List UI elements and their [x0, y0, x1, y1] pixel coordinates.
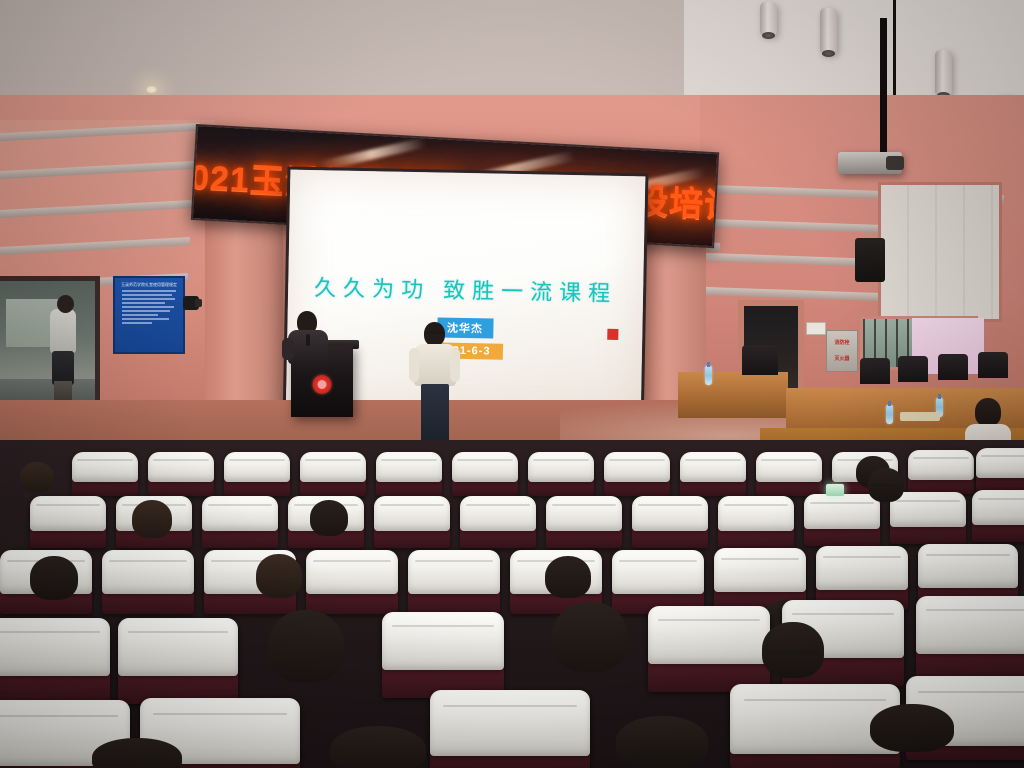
presenter-stage-head	[424, 322, 445, 346]
fire-cabinet-label-1: 消防栓	[827, 339, 857, 347]
seat	[908, 450, 974, 494]
seat-cover	[382, 612, 504, 670]
seat	[756, 452, 822, 496]
notice-text-line	[122, 322, 152, 324]
presenter-stage-arm-right	[450, 348, 460, 382]
seat	[430, 690, 590, 768]
microphone-icon	[306, 334, 310, 346]
seat	[632, 496, 708, 548]
seat	[718, 496, 794, 548]
audience-head	[310, 500, 348, 536]
audience-head-foreground	[330, 726, 426, 768]
seat	[648, 606, 770, 692]
attendee-glasses-icon	[870, 484, 900, 487]
wall-speaker	[855, 238, 885, 282]
presenter-stage-arm-left	[409, 348, 419, 382]
seat	[528, 452, 594, 496]
seat-cover	[30, 496, 106, 531]
seat-cover	[718, 496, 794, 531]
side-chair	[898, 356, 928, 382]
seat	[224, 452, 290, 496]
seat	[916, 596, 1024, 682]
seat-cover	[972, 490, 1024, 525]
notice-board-heading: 玉溪师范学院礼堂使用管理规定	[119, 282, 179, 288]
seated-attendee-head	[975, 398, 1001, 426]
window-blinds	[878, 182, 1002, 322]
seat-cover	[714, 548, 806, 592]
presenter-podium-arm	[282, 338, 294, 360]
ceiling-projector	[838, 152, 902, 174]
auditorium-photo: 2021玉溪师范学院一流课程建设培训 久久为功 致胜一流课程 沈华杰 2021-…	[0, 0, 1024, 768]
audience-head-foreground	[616, 716, 708, 768]
seat	[546, 496, 622, 548]
wall-camera-icon	[183, 296, 199, 310]
seat	[612, 550, 704, 614]
audience-head	[132, 500, 172, 538]
notice-text-line	[122, 290, 176, 292]
seat	[804, 494, 880, 546]
slide-speaker-badge: 沈华杰	[437, 317, 493, 338]
audience-head	[30, 556, 78, 600]
seat-cover	[890, 492, 966, 527]
presenter-stage-glasses-icon	[425, 331, 444, 334]
projector-mount-pole	[880, 18, 887, 152]
seat	[972, 490, 1024, 542]
seat-cover	[374, 496, 450, 531]
person-in-corridor	[50, 309, 76, 353]
ceiling-downlight	[145, 85, 158, 94]
notice-text-line	[122, 310, 170, 312]
slide-accent-square	[607, 328, 618, 339]
seat-cover	[118, 618, 238, 676]
seat-cover	[908, 450, 974, 480]
seat-cover	[604, 452, 670, 482]
pendant-spot-light	[935, 50, 952, 96]
audience-head	[256, 554, 302, 598]
seat-cover	[632, 496, 708, 531]
seat-cover	[528, 452, 594, 482]
side-chair	[860, 358, 890, 384]
audience-head-foreground	[268, 610, 344, 682]
notice-text-line	[122, 302, 165, 304]
fire-equipment-cabinet: 消防栓 灭火器	[826, 330, 858, 372]
seat-cover	[918, 544, 1018, 588]
seat	[976, 448, 1024, 492]
presenter-stage-trousers	[421, 384, 449, 444]
seat	[306, 550, 398, 614]
seat	[460, 496, 536, 548]
seat	[148, 452, 214, 496]
seat-cover	[0, 618, 110, 676]
seat-cover	[804, 494, 880, 529]
audience-head-foreground	[870, 704, 954, 752]
person-in-corridor-head	[57, 295, 74, 313]
side-table-front	[678, 372, 788, 418]
seat	[374, 496, 450, 548]
notice-text-line	[122, 306, 174, 308]
audience-head	[20, 462, 54, 492]
seat	[452, 452, 518, 496]
notice-text-line	[122, 298, 175, 300]
seat-cover	[202, 496, 278, 531]
wall-notice-board: 玉溪师范学院礼堂使用管理规定	[113, 276, 185, 354]
side-chair	[938, 354, 968, 380]
slide-title: 久久为功 致胜一流课程	[288, 270, 644, 309]
seat-cover	[546, 496, 622, 531]
seat	[0, 618, 110, 704]
seat-cover	[148, 452, 214, 482]
seat-cover	[612, 550, 704, 594]
seat-cover	[756, 452, 822, 482]
door-sign	[806, 322, 826, 335]
seat	[102, 550, 194, 614]
audience-head	[545, 556, 591, 598]
seat	[118, 618, 238, 704]
seat	[382, 612, 504, 698]
seat-cover	[976, 448, 1024, 478]
seat-cover	[408, 550, 500, 594]
seat-cover	[72, 452, 138, 482]
seat	[72, 452, 138, 496]
university-emblem-icon	[313, 375, 332, 394]
water-bottle	[886, 405, 893, 424]
pendant-spot-light	[820, 8, 837, 54]
seat-cover	[816, 546, 908, 590]
seat	[890, 492, 966, 544]
seat	[300, 452, 366, 496]
seat-cover	[306, 550, 398, 594]
fire-cabinet-label-2: 灭火器	[827, 355, 857, 363]
seat	[680, 452, 746, 496]
attendee-glasses-icon	[766, 650, 818, 654]
attendee-phone-screen	[826, 484, 844, 496]
table-document-stack	[900, 412, 940, 421]
seat-cover	[300, 452, 366, 482]
person-in-corridor-shorts	[52, 351, 74, 385]
seat-cover	[430, 690, 590, 756]
notice-text-line	[122, 294, 172, 296]
seat	[408, 550, 500, 614]
side-chair	[978, 352, 1008, 378]
notice-text-line	[122, 318, 169, 320]
seat-cover	[376, 452, 442, 482]
seat-cover	[460, 496, 536, 531]
water-bottle	[705, 366, 712, 385]
seat	[30, 496, 106, 548]
seat-cover	[224, 452, 290, 482]
seat	[202, 496, 278, 548]
seat-cover	[648, 606, 770, 664]
seat	[604, 452, 670, 496]
podium-chair	[742, 345, 778, 375]
seat-cover	[916, 596, 1024, 654]
seat-cover	[452, 452, 518, 482]
audience-head-foreground	[552, 602, 628, 672]
notice-text-line	[122, 314, 158, 316]
seat-cover	[102, 550, 194, 594]
seat	[376, 452, 442, 496]
pendant-spot-light	[760, 2, 777, 36]
seat-cover	[680, 452, 746, 482]
audience-head-foreground	[92, 738, 182, 768]
